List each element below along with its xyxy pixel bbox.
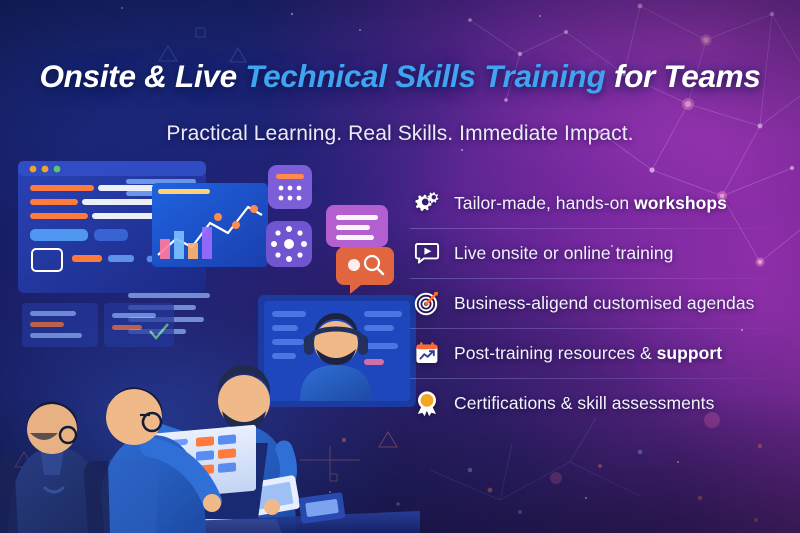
feature-item-live-training: Live onsite or online training <box>412 228 796 278</box>
feature-item-certifications: Certifications & skill assessments <box>412 378 796 428</box>
feature-label: Certifications & skill assessments <box>454 393 714 414</box>
feature-item-workshops: Tailor-made, hands-on workshops <box>412 178 796 228</box>
headline-lead: Onsite & Live <box>39 58 245 94</box>
feature-label: Post-training resources & support <box>454 343 722 364</box>
feature-label: Live onsite or online training <box>454 243 673 264</box>
headline-highlight: Technical Skills Training <box>245 58 605 94</box>
headline-trail: for Teams <box>605 58 760 94</box>
video-call-screen-headset-person <box>258 295 416 407</box>
side-info-panels <box>22 303 174 347</box>
clipboard-chart-icon <box>412 338 442 368</box>
feature-item-agendas: Business-aligend customised agendas <box>412 278 796 328</box>
analytics-chart-screen <box>152 183 268 267</box>
video-chat-icon <box>412 238 442 268</box>
floating-chat-card <box>336 247 394 294</box>
banner-subheadline: Practical Learning. Real Skills. Immedia… <box>0 122 800 146</box>
floating-network-card <box>266 221 312 267</box>
training-banner: Onsite & Live Technical Skills Training … <box>0 0 800 533</box>
floating-calendar-card <box>268 165 312 209</box>
feature-label: Tailor-made, hands-on workshops <box>454 193 727 214</box>
award-ribbon-icon <box>412 388 442 418</box>
target-dart-icon <box>412 288 442 318</box>
feature-item-support: Post-training resources & support <box>412 328 796 378</box>
banner-headline: Onsite & Live Technical Skills Training … <box>0 58 800 95</box>
feature-list: Tailor-made, hands-on workshops Live ons… <box>412 178 796 428</box>
gears-icon <box>412 188 442 218</box>
feature-label: Business-aligend customised agendas <box>454 293 754 314</box>
training-illustration <box>0 143 420 533</box>
